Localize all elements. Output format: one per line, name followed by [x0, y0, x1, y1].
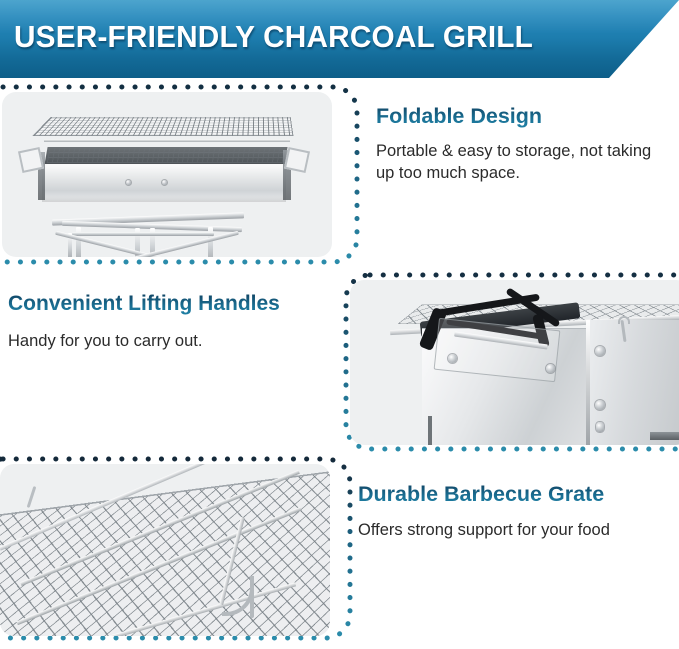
- infographic-page: USER-FRIENDLY CHARCOAL GRILL: [0, 0, 679, 649]
- feature-1-heading: Foldable Design: [376, 104, 672, 129]
- feature-2-body: Handy for you to carry out.: [8, 331, 338, 353]
- feature-3-body: Offers strong support for your food: [358, 520, 670, 542]
- feature-2-text: Convenient Lifting Handles Handy for you…: [8, 292, 338, 353]
- header-banner: USER-FRIENDLY CHARCOAL GRILL: [0, 0, 679, 78]
- feature-3-heading: Durable Barbecue Grate: [358, 482, 670, 507]
- page-title: USER-FRIENDLY CHARCOAL GRILL: [14, 19, 533, 55]
- feature-1-body: Portable & easy to storage, not taking u…: [376, 141, 672, 185]
- feature-3-image: [0, 464, 330, 636]
- feature-1-image: [2, 92, 332, 257]
- feature-1-text: Foldable Design Portable & easy to stora…: [376, 104, 672, 185]
- feature-2-heading: Convenient Lifting Handles: [8, 292, 338, 317]
- feature-2-image: [350, 280, 679, 445]
- feature-3-text: Durable Barbecue Grate Offers strong sup…: [358, 482, 670, 542]
